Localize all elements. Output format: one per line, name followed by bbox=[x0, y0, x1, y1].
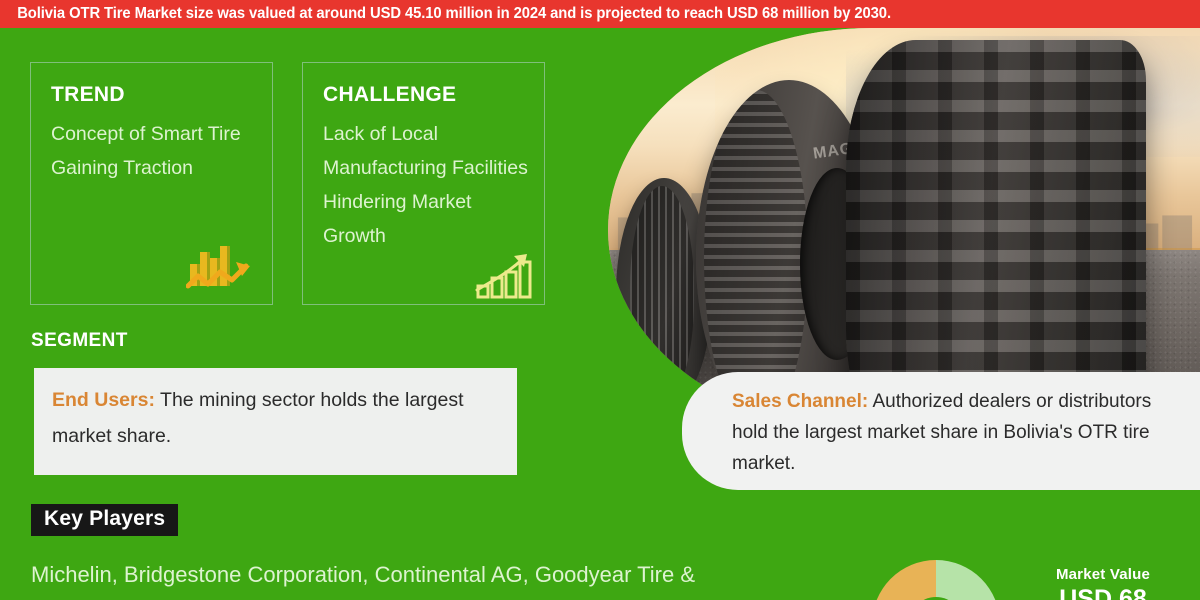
trend-card: TREND Concept of Smart Tire Gaining Trac… bbox=[30, 62, 273, 305]
segment-label: SEGMENT bbox=[31, 330, 128, 352]
headline-banner-text: Bolivia OTR Tire Market size was valued … bbox=[0, 5, 891, 23]
key-players-badge: Key Players bbox=[31, 504, 178, 536]
market-value-amount: USD 68 bbox=[1013, 585, 1193, 600]
market-value-block: Market Value USD 68 bbox=[1013, 566, 1193, 600]
sales-channel-card: Sales Channel: Authorized dealers or dis… bbox=[682, 372, 1200, 490]
market-value-label: Market Value bbox=[1013, 566, 1193, 583]
challenge-card: CHALLENGE Lack of Local Manufacturing Fa… bbox=[302, 62, 545, 305]
challenge-card-title: CHALLENGE bbox=[323, 83, 456, 107]
sales-channel-line: Sales Channel: Authorized dealers or dis… bbox=[732, 386, 1186, 479]
bar-chart-growth-arrow-icon bbox=[474, 250, 536, 300]
trend-card-body: Concept of Smart Tire Gaining Traction bbox=[51, 117, 260, 185]
headline-banner: Bolivia OTR Tire Market size was valued … bbox=[0, 0, 1200, 28]
key-players-list: Michelin, Bridgestone Corporation, Conti… bbox=[31, 556, 871, 594]
challenge-card-body: Lack of Local Manufacturing Facilities H… bbox=[323, 117, 532, 253]
infographic-root: Bolivia OTR Tire Market size was valued … bbox=[0, 0, 1200, 600]
segment-card-line: End Users: The mining sector holds the l… bbox=[52, 382, 499, 454]
sales-channel-key: Sales Channel: bbox=[732, 391, 868, 412]
market-value-donut-chart bbox=[872, 560, 1000, 600]
segment-key: End Users: bbox=[52, 389, 155, 411]
trend-card-title: TREND bbox=[51, 83, 125, 107]
bar-chart-up-arrow-icon bbox=[186, 242, 258, 294]
segment-card: End Users: The mining sector holds the l… bbox=[34, 368, 517, 475]
